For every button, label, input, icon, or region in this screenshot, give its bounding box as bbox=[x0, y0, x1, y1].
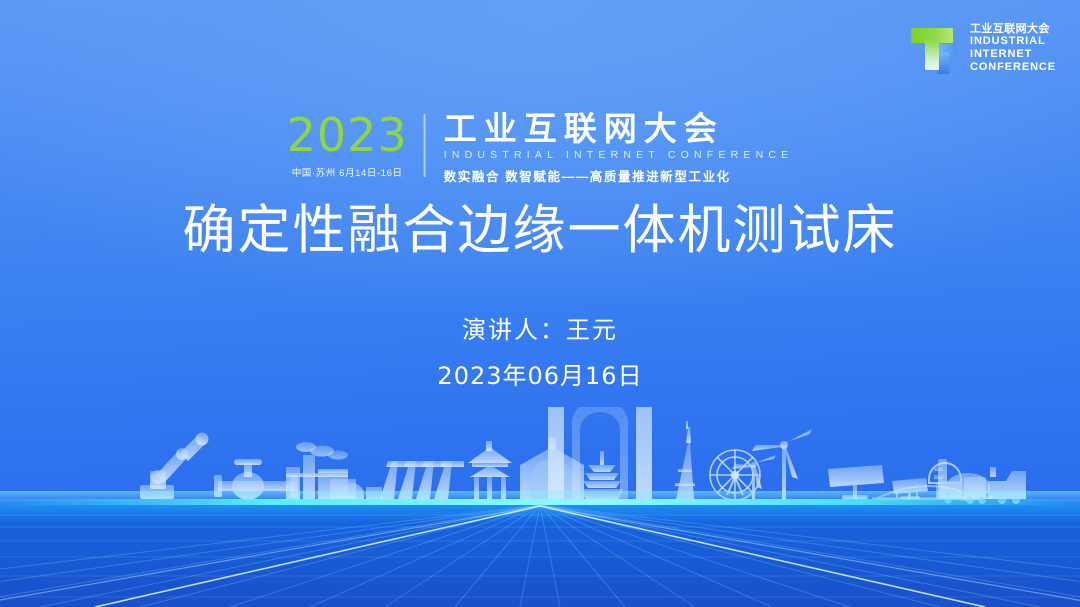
storage-tanks-silhouette bbox=[929, 459, 992, 501]
gate-of-the-orient-silhouette bbox=[548, 407, 652, 499]
watermark-mark bbox=[70, 60, 100, 94]
watermark-mark bbox=[470, 86, 492, 112]
skyline-illustration bbox=[0, 407, 1080, 607]
watermark-mark bbox=[608, 398, 630, 424]
pagoda-silhouette bbox=[581, 451, 623, 499]
event-logo-right: 工业互联网大会 INDUSTRIAL INTERNET CONFERENCE 数… bbox=[426, 112, 794, 185]
horizon-glow bbox=[0, 491, 1080, 503]
robot-arm-silhouette bbox=[140, 433, 209, 500]
bridge-silhouette bbox=[872, 483, 984, 500]
event-location-dates: 中国·苏州 6月14日-16日 bbox=[292, 165, 403, 179]
conference-mark-icon bbox=[909, 22, 961, 74]
presentation-date: 2023年06月16日 bbox=[0, 356, 1080, 391]
watermark-mark bbox=[36, 452, 64, 484]
corner-logo: 工业互联网大会 INDUSTRIAL INTERNET CONFERENCE bbox=[909, 22, 1056, 74]
pipe-valve-silhouette bbox=[214, 459, 298, 500]
watermark-mark bbox=[477, 452, 499, 478]
watermark-mark bbox=[243, 120, 269, 150]
oil-derricks-silhouette bbox=[380, 461, 464, 499]
page-title: 确定性融合边缘一体机测试床 bbox=[0, 200, 1080, 263]
corner-logo-en-1: INDUSTRIAL bbox=[970, 35, 1056, 48]
event-year: 2023 bbox=[287, 112, 408, 158]
corner-logo-en-3: CONFERENCE bbox=[970, 61, 1056, 74]
watermark-mark bbox=[812, 96, 838, 126]
event-title-en: INDUSTRIAL INTERNET CONFERENCE bbox=[444, 149, 794, 161]
watermark-mark bbox=[686, 414, 712, 444]
exhibition-hall-silhouette bbox=[520, 437, 584, 499]
event-logo-left: 2023 中国·苏州 6月14日-16日 bbox=[287, 112, 424, 179]
speaker-label: 演讲人：王元 bbox=[0, 310, 1080, 345]
watermark-mark bbox=[862, 404, 892, 438]
ground-grid-lines bbox=[0, 505, 1080, 607]
corner-logo-text: 工业互联网大会 INDUSTRIAL INTERNET CONFERENCE bbox=[970, 23, 1056, 74]
ferris-wheel-silhouette bbox=[710, 450, 760, 500]
solar-panel-silhouette bbox=[828, 465, 928, 499]
event-title-cn: 工业互联网大会 bbox=[444, 112, 794, 146]
event-logo: 2023 中国·苏州 6月14日-16日 工业互联网大会 INDUSTRIAL … bbox=[287, 112, 794, 185]
factory-silhouette bbox=[286, 442, 382, 499]
eiffel-tower-silhouette bbox=[672, 421, 698, 502]
watermark-mark bbox=[329, 466, 353, 494]
headline-block: 确定性融合边缘一体机测试床 演讲人：王元 2023年06月16日 bbox=[0, 200, 1080, 391]
horizon-line bbox=[0, 499, 1080, 505]
corner-logo-cn: 工业互联网大会 bbox=[970, 23, 1056, 36]
ground-grid-bands bbox=[0, 515, 1080, 597]
corner-logo-en-2: INTERNET bbox=[970, 48, 1056, 61]
event-tagline: 数实融合 数智赋能——高质量推进新型工业化 bbox=[444, 166, 794, 185]
title-slide: 工业互联网大会 INDUSTRIAL INTERNET CONFERENCE 2… bbox=[0, 0, 1080, 607]
wind-turbine-silhouette bbox=[732, 429, 812, 499]
highway-stripes bbox=[95, 506, 985, 607]
skyline-silhouettes bbox=[140, 407, 992, 502]
chinese-pavilion-silhouette bbox=[468, 441, 512, 499]
freight-train-silhouette bbox=[940, 467, 1026, 504]
ground-plane bbox=[0, 505, 1080, 607]
